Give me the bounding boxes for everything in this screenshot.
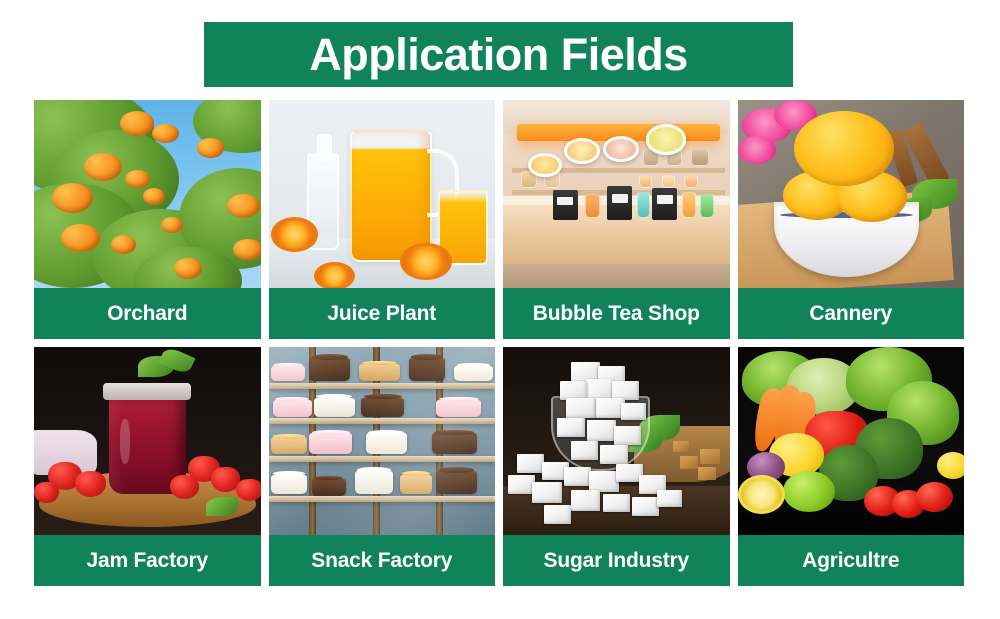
application-fields-grid: Orchard Juice Plant xyxy=(34,100,964,586)
card-image-agriculture xyxy=(738,347,965,535)
card-label-bubble-tea-shop: Bubble Tea Shop xyxy=(503,288,730,339)
card-image-cannery xyxy=(738,100,965,288)
card-image-snack-factory xyxy=(269,347,496,535)
card-image-juice-plant xyxy=(269,100,496,288)
card-label-snack-factory: Snack Factory xyxy=(269,535,496,586)
application-fields-page: Application Fields xyxy=(0,0,1000,619)
card-label-cannery: Cannery xyxy=(738,288,965,339)
card-label-sugar-industry: Sugar Industry xyxy=(503,535,730,586)
card-juice-plant[interactable]: Juice Plant xyxy=(269,100,496,339)
card-cannery[interactable]: Cannery xyxy=(738,100,965,339)
card-sugar-industry[interactable]: Sugar Industry xyxy=(503,347,730,586)
card-snack-factory[interactable]: Snack Factory xyxy=(269,347,496,586)
card-image-bubble-tea-shop xyxy=(503,100,730,288)
card-bubble-tea-shop[interactable]: Bubble Tea Shop xyxy=(503,100,730,339)
card-orchard[interactable]: Orchard xyxy=(34,100,261,339)
card-label-juice-plant: Juice Plant xyxy=(269,288,496,339)
card-label-agriculture: Agricultre xyxy=(738,535,965,586)
card-jam-factory[interactable]: Jam Factory xyxy=(34,347,261,586)
card-image-sugar-industry xyxy=(503,347,730,535)
card-label-orchard: Orchard xyxy=(34,288,261,339)
card-image-jam-factory xyxy=(34,347,261,535)
card-agriculture[interactable]: Agricultre xyxy=(738,347,965,586)
card-image-orchard xyxy=(34,100,261,288)
page-title-banner: Application Fields xyxy=(204,22,793,87)
card-label-jam-factory: Jam Factory xyxy=(34,535,261,586)
page-title: Application Fields xyxy=(309,32,688,77)
